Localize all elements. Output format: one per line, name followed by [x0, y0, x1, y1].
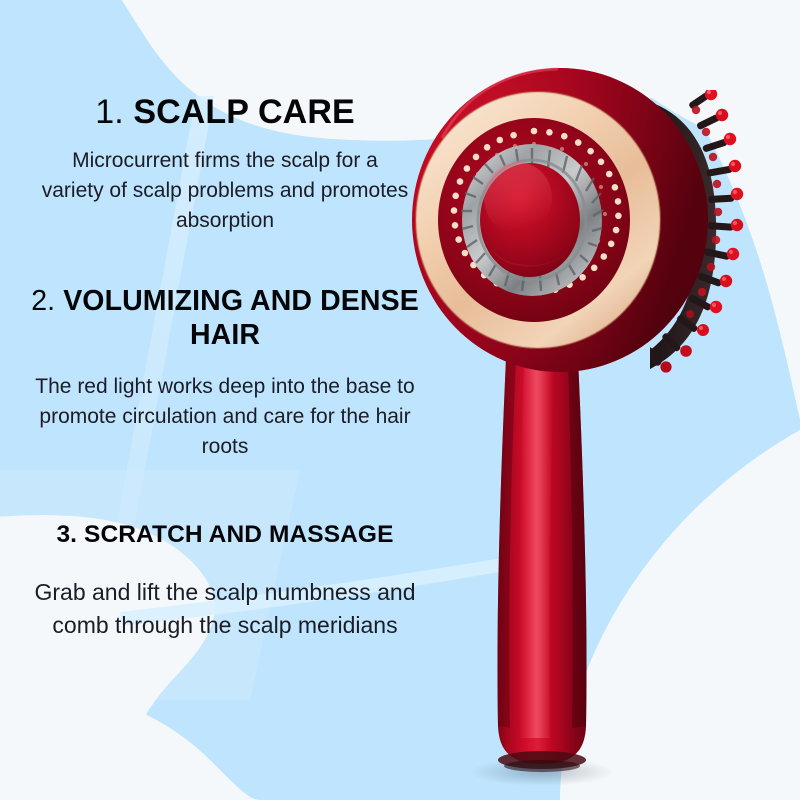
- feature-3-heading: 3. SCRATCH AND MASSAGE: [0, 521, 450, 550]
- feature-3-number: 3.: [56, 521, 77, 548]
- device-head: [412, 68, 708, 372]
- feature-2-title: VOLUMIZING AND DENSE HAIR: [63, 285, 419, 351]
- feature-2-number: 2.: [31, 285, 55, 317]
- handle: [497, 320, 586, 772]
- feature-1-body: Microcurrent firms the scalp for a varie…: [0, 146, 450, 236]
- product-feature-graphic: 1. SCALP CARE Microcurrent firms the sca…: [0, 0, 800, 800]
- feature-1-number: 1.: [95, 93, 124, 131]
- feature-block-3: 3. SCRATCH AND MASSAGE Grab and lift the…: [0, 521, 450, 642]
- feature-3-title: SCRATCH AND MASSAGE: [84, 521, 394, 548]
- feature-1-title: SCALP CARE: [133, 93, 354, 131]
- dome-highlight: [484, 162, 552, 234]
- handle-highlight: [519, 364, 554, 738]
- product-ground-shadow: [470, 758, 614, 786]
- feature-2-heading: 2. VOLUMIZING AND DENSE HAIR: [0, 285, 450, 352]
- feature-3-body: Grab and lift the scalp numbness and com…: [0, 576, 450, 642]
- feature-block-1: 1. SCALP CARE Microcurrent firms the sca…: [0, 92, 450, 236]
- product-image: [400, 20, 800, 800]
- feature-1-heading: 1. SCALP CARE: [0, 92, 450, 132]
- scalp-massager-illustration: [400, 20, 800, 800]
- feature-text-column: 1. SCALP CARE Microcurrent firms the sca…: [0, 0, 450, 800]
- feature-2-body: The red light works deep into the base t…: [0, 372, 450, 462]
- feature-block-2: 2. VOLUMIZING AND DENSE HAIR The red lig…: [0, 285, 450, 462]
